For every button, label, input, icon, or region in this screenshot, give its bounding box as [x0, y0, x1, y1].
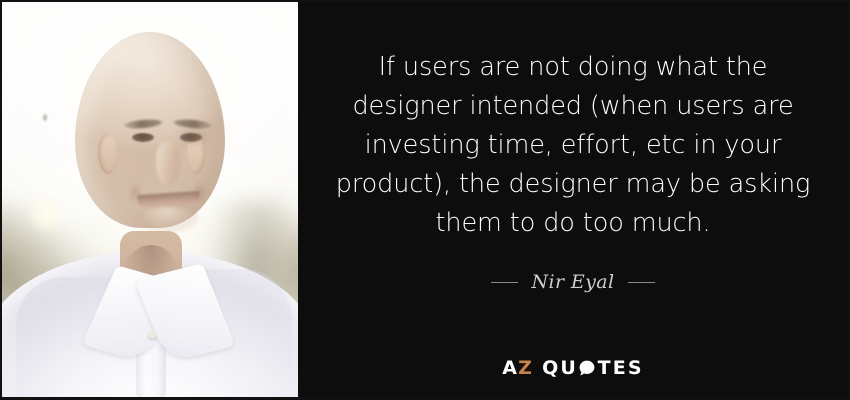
quote-text: If users are not doing what the designer…	[298, 48, 848, 243]
photo-background-speck	[43, 114, 47, 121]
attribution-dash-left	[491, 282, 518, 283]
author-portrait-photo	[2, 2, 298, 397]
photo-bokeh-highlight	[30, 198, 64, 232]
portrait-eye-left	[132, 133, 154, 142]
portrait-chin	[134, 207, 200, 233]
logo-quotes-qu: QU	[542, 357, 578, 379]
quote-author-name: Nir Eyal	[531, 271, 614, 293]
portrait-ear-left	[98, 134, 117, 174]
logo-quotes-tes: TES	[598, 357, 644, 379]
logo-quotes-wordmark: QU TES	[542, 357, 644, 379]
az-quotes-logo[interactable]: AZ QU TES	[298, 357, 848, 379]
attribution-dash-right	[628, 282, 655, 283]
logo-letter-a: A	[502, 357, 518, 379]
logo-az-wordmark: AZ	[502, 357, 533, 379]
quote-panel: If users are not doing what the designer…	[298, 2, 848, 397]
portrait-shirt-button	[148, 331, 156, 339]
logo-letter-z: Z	[518, 357, 533, 379]
quote-card: If users are not doing what the designer…	[0, 0, 850, 400]
speech-bubble-icon	[579, 360, 595, 376]
quote-attribution: Nir Eyal	[298, 271, 848, 293]
portrait-eye-right	[180, 133, 202, 142]
portrait-nose	[156, 142, 180, 186]
